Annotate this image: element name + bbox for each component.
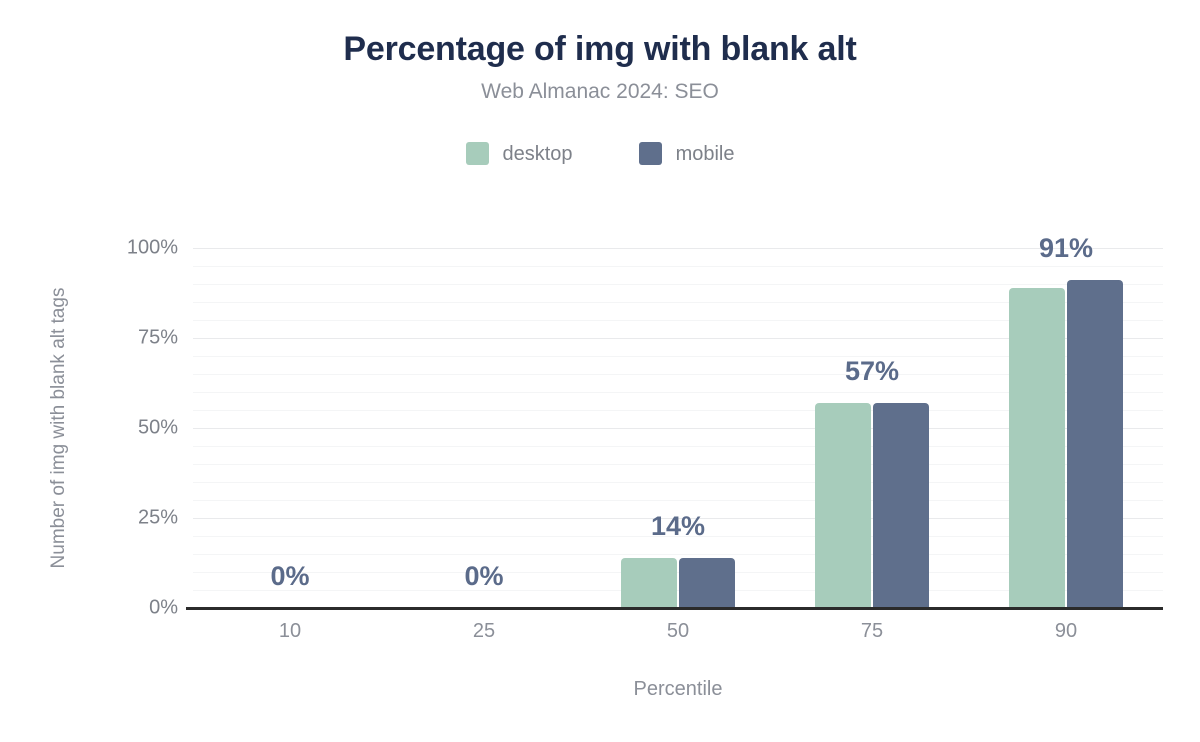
bar-value-label: 57% (782, 356, 962, 387)
x-axis-tick-label: 25 (414, 620, 554, 643)
y-axis-tick-label: 50% (58, 417, 178, 440)
plot-area (193, 248, 1163, 608)
x-axis-tick-label: 10 (220, 620, 360, 643)
bar-mobile-p50[interactable] (679, 558, 735, 608)
chart-plot: Number of img with blank alt tags Percen… (0, 0, 1200, 742)
bar-desktop-p50[interactable] (621, 558, 677, 608)
bar-value-label: 0% (200, 561, 380, 592)
x-axis-tick-label: 90 (996, 620, 1136, 643)
bar-value-label: 0% (394, 561, 574, 592)
y-axis-tick-label: 75% (58, 327, 178, 350)
y-axis-tick-label: 25% (58, 507, 178, 530)
bar-value-label: 14% (588, 511, 768, 542)
x-axis-line (186, 607, 1163, 610)
gridline-minor (193, 284, 1163, 285)
bar-value-label: 91% (976, 233, 1156, 264)
y-axis-tick-label: 100% (58, 237, 178, 260)
x-axis-tick-label: 50 (608, 620, 748, 643)
x-axis-title: Percentile (193, 678, 1163, 701)
bar-desktop-p75[interactable] (815, 403, 871, 608)
y-axis-tick-label: 0% (58, 597, 178, 620)
bar-mobile-p90[interactable] (1067, 280, 1123, 608)
x-axis-tick-label: 75 (802, 620, 942, 643)
gridline-minor (193, 266, 1163, 267)
bar-mobile-p75[interactable] (873, 403, 929, 608)
bar-desktop-p90[interactable] (1009, 288, 1065, 608)
